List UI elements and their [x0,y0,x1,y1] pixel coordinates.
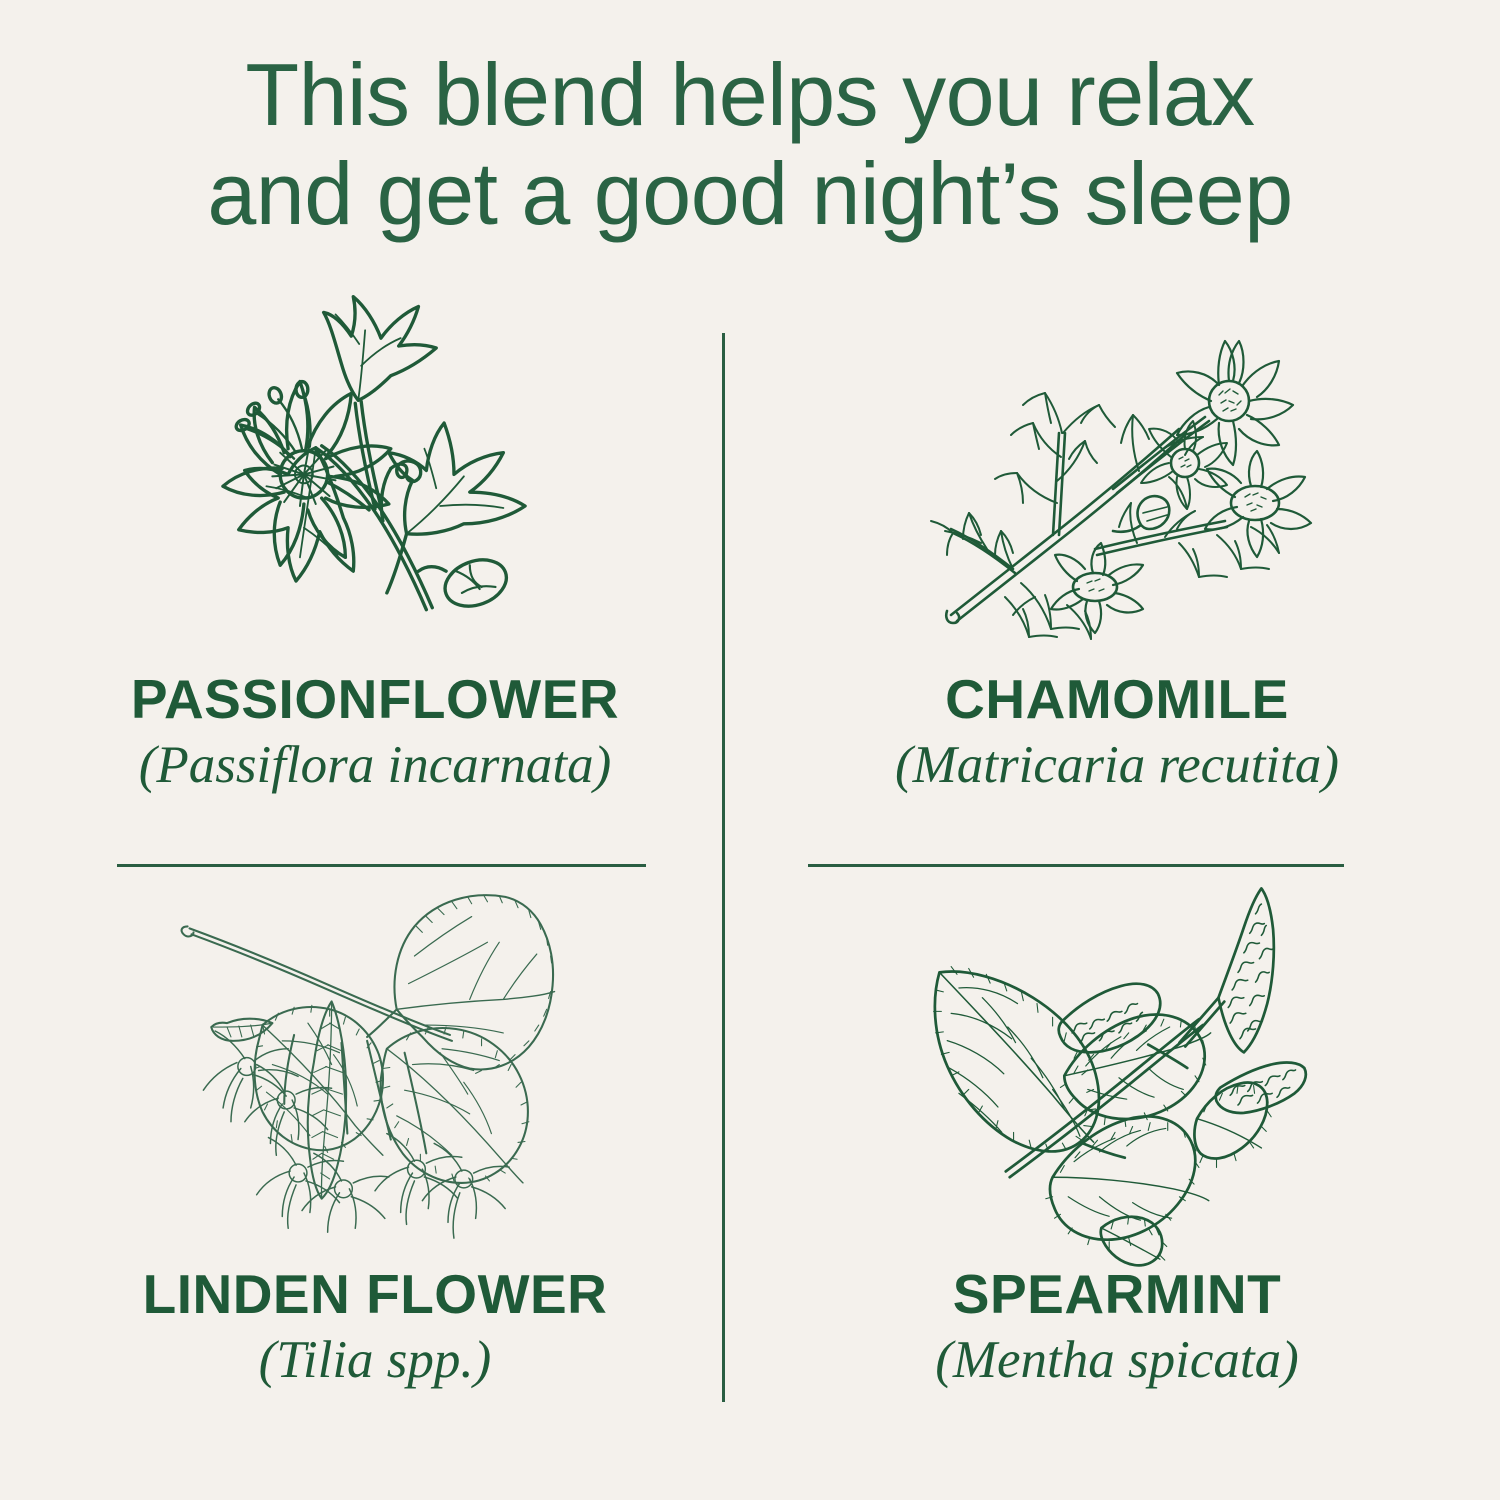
herb-caption-passionflower: PASSIONFLOWER (Passiflora incarnata) [12,670,738,795]
herb-latin-name: (Tilia spp.) [12,1331,738,1389]
herb-latin-name: (Passiflora incarnata) [12,736,738,794]
passionflower-illustration [12,266,738,666]
herb-card-passionflower: PASSIONFLOWER (Passiflora incarnata) [12,266,738,844]
herb-caption-chamomile: CHAMOMILE (Matricaria recutita) [754,670,1480,795]
linden-flower-illustration [12,867,738,1267]
herb-caption-spearmint: SPEARMINT (Mentha spicata) [754,1265,1480,1390]
herb-latin-name: (Mentha spicata) [754,1331,1480,1389]
herb-caption-linden-flower: LINDEN FLOWER (Tilia spp.) [12,1265,738,1390]
herb-common-name: CHAMOMILE [754,670,1480,728]
herb-grid: PASSIONFLOWER (Passiflora incarnata) [0,266,1500,1446]
herb-card-chamomile: CHAMOMILE (Matricaria recutita) [754,266,1480,844]
herb-common-name: LINDEN FLOWER [12,1265,738,1323]
herb-latin-name: (Matricaria recutita) [754,736,1480,794]
herb-common-name: PASSIONFLOWER [12,670,738,728]
spearmint-illustration [754,867,1480,1267]
headline-line-1: This blend helps you relax [0,46,1500,145]
herb-card-spearmint: SPEARMINT (Mentha spicata) [754,867,1480,1445]
herbal-blend-infographic: This blend helps you relax and get a goo… [0,0,1500,1500]
page-title: This blend helps you relax and get a goo… [0,46,1500,243]
herb-card-linden-flower: LINDEN FLOWER (Tilia spp.) [12,867,738,1445]
headline-line-2: and get a good night’s sleep [0,145,1500,244]
herb-common-name: SPEARMINT [754,1265,1480,1323]
chamomile-illustration [754,266,1480,666]
